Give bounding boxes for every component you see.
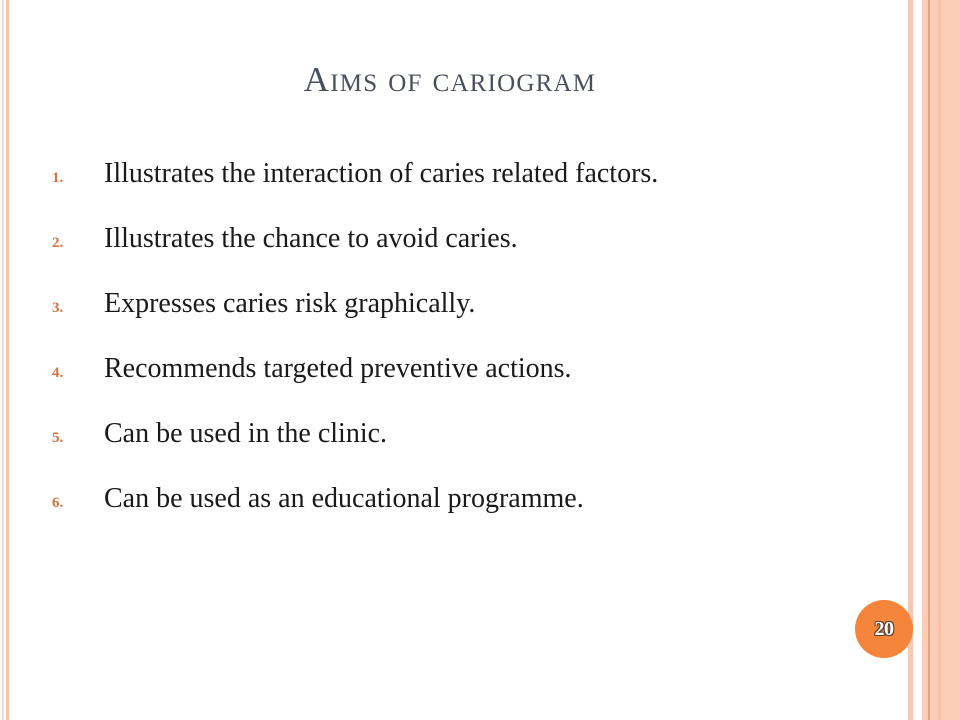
- list-item: 1. Illustrates the interaction of caries…: [52, 160, 872, 225]
- list-item-number: 1.: [52, 171, 104, 186]
- list-item: 6. Can be used as an educational program…: [52, 485, 872, 550]
- list-item: 2. Illustrates the chance to avoid carie…: [52, 225, 872, 290]
- list-item-number: 2.: [52, 236, 104, 251]
- list-item: 4. Recommends targeted preventive action…: [52, 355, 872, 420]
- slide-title: Aims of cariogram: [0, 60, 900, 100]
- left-edge-stripe-outer: [6, 0, 9, 720]
- right-edge-stripe-light: [938, 0, 941, 720]
- list-item-number: 3.: [52, 301, 104, 316]
- right-edge-stripe-dark: [928, 0, 930, 720]
- right-edge-stripe-thin: [908, 0, 913, 720]
- left-edge-stripe-inner: [2, 0, 4, 720]
- list-item-text: Can be used in the clinic.: [104, 420, 872, 448]
- list-item-text: Recommends targeted preventive actions.: [104, 355, 872, 383]
- list-item-text: Can be used as an educational programme.: [104, 485, 872, 513]
- slide-canvas: Aims of cariogram 1. Illustrates the int…: [0, 0, 960, 720]
- aims-list: 1. Illustrates the interaction of caries…: [52, 160, 872, 550]
- page-number-text: 20: [875, 618, 894, 641]
- list-item-text: Illustrates the chance to avoid caries.: [104, 225, 872, 253]
- list-item-text: Illustrates the interaction of caries re…: [104, 160, 872, 188]
- list-item-text: Expresses caries risk graphically.: [104, 290, 872, 318]
- list-item: 5. Can be used in the clinic.: [52, 420, 872, 485]
- list-item: 3. Expresses caries risk graphically.: [52, 290, 872, 355]
- page-number-badge: 20: [855, 600, 913, 658]
- list-item-number: 5.: [52, 431, 104, 446]
- list-item-number: 4.: [52, 366, 104, 381]
- list-item-number: 6.: [52, 496, 104, 511]
